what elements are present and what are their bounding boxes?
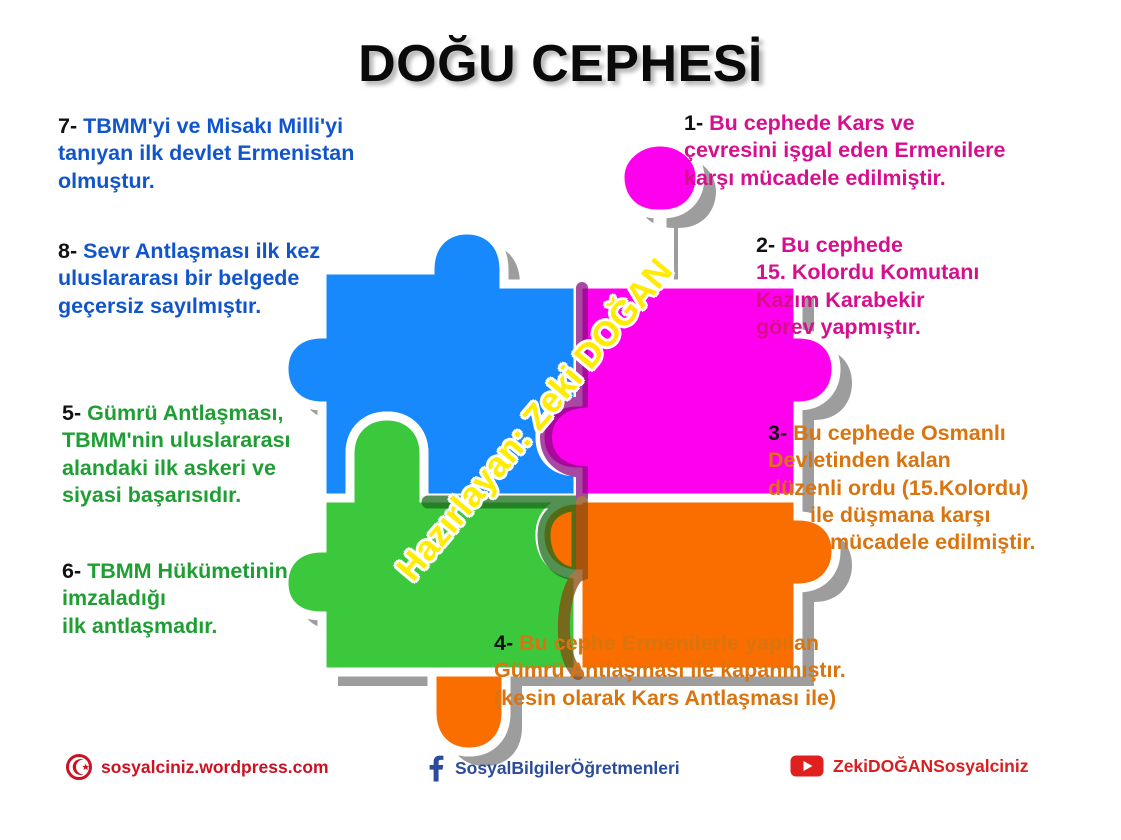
note-5-line-2: TBMM'nin uluslararası: [62, 427, 291, 454]
note-5-number: 5-: [62, 401, 81, 425]
note-7-line-3: olmuştur.: [58, 168, 354, 195]
note-2-line-2: 15. Kolordu Komutanı: [756, 259, 979, 286]
footer-link-facebook[interactable]: SosyalBilgilerÖğretmenleri: [424, 754, 680, 782]
note-3-line-5: mücadele edilmiştir.: [768, 529, 1036, 556]
footer-label-youtube: ZekiDOĞANSosyalciniz: [833, 756, 1028, 777]
note-5-line-1: Gümrü Antlaşması,: [87, 401, 283, 425]
note-1-line-1: Bu cephede Kars ve: [709, 111, 915, 135]
footer-link-youtube[interactable]: ZekiDOĞANSosyalciniz: [790, 754, 1028, 778]
note-4-line-1: Bu cephe Ermenilerle yapılan: [519, 631, 819, 655]
note-1-number: 1-: [684, 111, 703, 135]
note-6-line-2: imzaladığı: [62, 585, 288, 612]
note-5-line-3: alandaki ilk askeri ve: [62, 455, 291, 482]
footer-label-facebook: SosyalBilgilerÖğretmenleri: [455, 758, 680, 779]
turkish-flag-icon: [66, 754, 92, 780]
note-8-line-1: Sevr Antlaşması ilk kez: [83, 239, 320, 263]
youtube-icon: [790, 754, 824, 778]
page-title: DOĞU CEPHESİ: [0, 34, 1121, 94]
note-1-line-2: çevresini işgal eden Ermenilere: [684, 137, 1005, 164]
note-7-number: 7-: [58, 114, 77, 138]
note-3-line-2: Devletinden kalan: [768, 447, 1036, 474]
note-2-number: 2-: [756, 233, 775, 257]
note-5-line-4: siyasi başarısıdır.: [62, 482, 291, 509]
note-6: 6- TBMM Hükümetinin imzaladığı ilk antla…: [62, 558, 288, 640]
note-6-line-3: ilk antlaşmadır.: [62, 613, 288, 640]
note-8: 8- Sevr Antlaşması ilk kez uluslararası …: [58, 238, 320, 320]
note-6-line-1: TBMM Hükümetinin: [87, 559, 288, 583]
note-7-line-1: TBMM'yi ve Misakı Milli'yi: [83, 114, 343, 138]
note-2: 2- Bu cephede 15. Kolordu Komutanı Kazım…: [756, 232, 979, 341]
note-7-line-2: tanıyan ilk devlet Ermenistan: [58, 140, 354, 167]
note-3: 3- Bu cephede Osmanlı Devletinden kalan …: [768, 420, 1036, 556]
note-6-number: 6-: [62, 559, 81, 583]
puzzle-piece-top-left: [284, 230, 578, 498]
note-4-number: 4-: [494, 631, 513, 655]
footer-link-wordpress[interactable]: sosyalciniz.wordpress.com: [66, 754, 329, 780]
note-5: 5- Gümrü Antlaşması, TBMM'nin uluslarara…: [62, 400, 291, 509]
note-8-number: 8-: [58, 239, 77, 263]
facebook-icon: [424, 754, 446, 782]
note-1-line-3: karşı mücadele edilmiştir.: [684, 165, 1005, 192]
footer-bar: sosyalciniz.wordpress.com SosyalBilgiler…: [0, 748, 1121, 794]
note-2-line-4: görev yapmıştır.: [756, 314, 979, 341]
note-8-line-3: geçersiz sayılmıştır.: [58, 293, 320, 320]
note-3-line-3: düzenli ordu (15.Kolordu): [768, 475, 1036, 502]
note-4-line-3: (kesin olarak Kars Antlaşması ile): [494, 685, 846, 712]
note-1: 1- Bu cephede Kars ve çevresini işgal ed…: [684, 110, 1005, 192]
note-3-line-4: ile düşmana karşı: [768, 502, 1036, 529]
note-4: 4- Bu cephe Ermenilerle yapılan Gümrü An…: [494, 630, 846, 712]
note-3-number: 3-: [768, 421, 787, 445]
infographic-canvas: DOĞU CEPHESİ: [0, 0, 1121, 840]
note-2-line-3: Kazım Karabekir: [756, 287, 979, 314]
note-3-line-1: Bu cephede Osmanlı: [793, 421, 1006, 445]
note-8-line-2: uluslararası bir belgede: [58, 265, 320, 292]
note-4-line-2: Gümrü Antlaşması ile kapanmıştır.: [494, 657, 846, 684]
footer-label-wordpress: sosyalciniz.wordpress.com: [101, 757, 329, 778]
note-2-line-1: Bu cephede: [781, 233, 903, 257]
note-7: 7- TBMM'yi ve Misakı Milli'yi tanıyan il…: [58, 113, 354, 195]
